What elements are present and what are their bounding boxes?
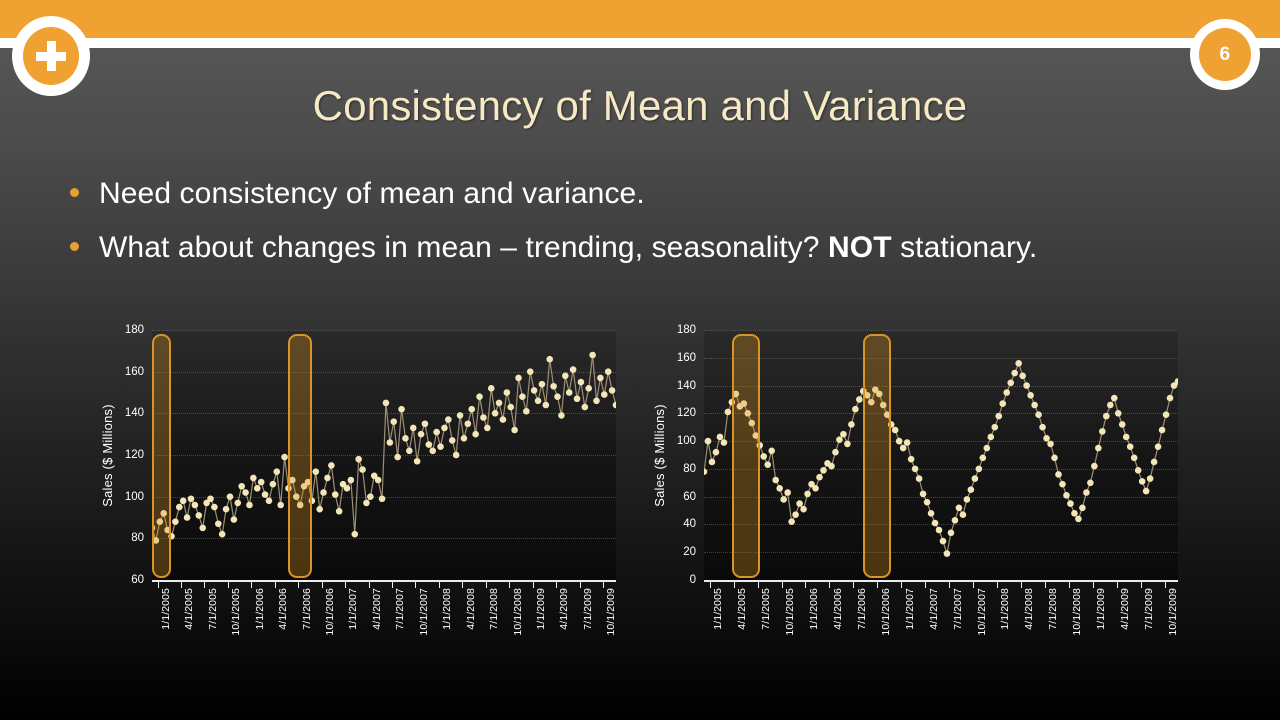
chart-x-tick-label: 4/1/2007	[371, 588, 383, 630]
chart-y-axis-label-text: Sales ($ Millions)	[652, 404, 667, 507]
page-number-label: 6	[1199, 28, 1251, 81]
chart-y-tick-label: 140	[125, 407, 144, 419]
chart-x-tick-labels: 1/1/20054/1/20057/1/200510/1/20051/1/200…	[704, 588, 1178, 668]
chart-x-tick-label: 10/1/2005	[230, 588, 242, 636]
chart-gridline	[152, 455, 616, 456]
header-divider-rule	[0, 38, 1280, 48]
chart-x-tick-label: 4/1/2006	[277, 588, 289, 630]
chart-x-tick-label: 10/1/2006	[324, 588, 336, 636]
chart-y-tick-label: 60	[131, 574, 144, 586]
chart-x-tick-label: 7/1/2009	[582, 588, 594, 630]
chart-x-tick-label: 1/1/2005	[712, 588, 724, 630]
chart-trending-series: Sales ($ Millions) 6080100120140160180 1…	[96, 330, 616, 670]
chart-x-tick-label: 1/1/2006	[254, 588, 266, 630]
chart-gridline	[704, 386, 1178, 387]
chart-x-tick-label: 7/1/2005	[760, 588, 772, 630]
chart-x-tick-label: 4/1/2005	[736, 588, 748, 630]
chart-gridline	[704, 358, 1178, 359]
chart-x-tick-label: 1/1/2009	[1095, 588, 1107, 630]
chart-x-tick-label: 1/1/2008	[441, 588, 453, 630]
chart-gridline	[704, 524, 1178, 525]
chart-x-tick-label: 10/1/2009	[1167, 588, 1179, 636]
chart-y-ticks: 6080100120140160180	[116, 330, 148, 580]
header-band	[0, 0, 1280, 38]
bullet-list: Need consistency of mean and variance. W…	[70, 172, 1190, 281]
chart-highlight-region	[732, 334, 760, 578]
slide: 6 Consistency of Mean and Variance Need …	[0, 0, 1280, 720]
plus-badge-inner	[23, 27, 79, 85]
chart-x-tick-label: 10/1/2005	[784, 588, 796, 636]
chart-gridline	[704, 413, 1178, 414]
chart-gridline	[152, 413, 616, 414]
page-title: Consistency of Mean and Variance	[0, 82, 1280, 130]
chart-x-tick-label: 7/1/2007	[952, 588, 964, 630]
chart-gridline	[704, 552, 1178, 553]
chart-gridline	[704, 330, 1178, 331]
chart-y-tick-label: 80	[683, 463, 696, 475]
chart-x-tick-label: 7/1/2007	[394, 588, 406, 630]
chart-y-tick-label: 0	[690, 574, 696, 586]
chart-plot-area	[152, 330, 616, 580]
chart-y-tick-label: 100	[125, 491, 144, 503]
bullet-text-span-after: stationary.	[892, 231, 1038, 264]
chart-x-tick-label: 7/1/2008	[488, 588, 500, 630]
bullet-dot-icon	[70, 242, 79, 251]
plus-icon	[36, 41, 66, 71]
chart-gridline	[704, 469, 1178, 470]
chart-y-tick-label: 100	[677, 435, 696, 447]
chart-y-tick-label: 20	[683, 546, 696, 558]
chart-y-tick-label: 180	[677, 324, 696, 336]
chart-gridline	[152, 538, 616, 539]
chart-y-tick-label: 180	[125, 324, 144, 336]
list-item: Need consistency of mean and variance.	[70, 172, 1190, 216]
chart-seasonal-series: Sales ($ Millions) 020406080100120140160…	[648, 330, 1178, 670]
chart-y-ticks: 020406080100120140160180	[668, 330, 700, 580]
bullet-text-span: Need consistency of mean and variance.	[99, 177, 645, 210]
chart-x-tick-label: 7/1/2006	[856, 588, 868, 630]
chart-y-tick-label: 160	[125, 366, 144, 378]
chart-y-axis-label: Sales ($ Millions)	[648, 330, 670, 580]
bullet-text-emphasis: NOT	[828, 231, 892, 264]
chart-x-tick-label: 7/1/2006	[301, 588, 313, 630]
chart-x-tick-label: 4/1/2008	[465, 588, 477, 630]
list-item: What about changes in mean – trending, s…	[70, 226, 1190, 270]
chart-x-tick-label: 4/1/2008	[1023, 588, 1035, 630]
chart-x-axis	[704, 580, 1178, 587]
chart-y-tick-label: 120	[125, 449, 144, 461]
chart-x-tick-label: 1/1/2008	[999, 588, 1011, 630]
chart-y-axis-label: Sales ($ Millions)	[96, 330, 118, 580]
chart-series-line	[704, 330, 1178, 580]
chart-y-tick-label: 40	[683, 518, 696, 530]
page-number-badge: 6	[1190, 19, 1260, 90]
chart-gridline	[152, 372, 616, 373]
chart-plot-area	[704, 330, 1178, 580]
bullet-text-span: What about changes in mean – trending, s…	[99, 231, 828, 264]
chart-x-tick-label: 4/1/2009	[558, 588, 570, 630]
chart-y-tick-label: 160	[677, 352, 696, 364]
chart-x-tick-label: 10/1/2008	[1071, 588, 1083, 636]
chart-x-tick-label: 10/1/2008	[512, 588, 524, 636]
chart-x-tick-label: 7/1/2009	[1143, 588, 1155, 630]
chart-panel-group: Sales ($ Millions) 6080100120140160180 1…	[0, 330, 1280, 670]
chart-x-tick-label: 1/1/2007	[347, 588, 359, 630]
chart-highlight-region	[863, 334, 891, 578]
chart-x-tick-label: 4/1/2007	[928, 588, 940, 630]
chart-y-tick-label: 60	[683, 491, 696, 503]
chart-x-tick-label: 4/1/2005	[183, 588, 195, 630]
chart-x-tick-label: 10/1/2007	[418, 588, 430, 636]
chart-x-tick-label: 1/1/2005	[160, 588, 172, 630]
chart-x-tick-label: 4/1/2009	[1119, 588, 1131, 630]
chart-y-axis-label-text: Sales ($ Millions)	[100, 404, 115, 507]
bullet-text: Need consistency of mean and variance.	[99, 172, 645, 216]
chart-gridline	[704, 441, 1178, 442]
chart-y-tick-label: 80	[131, 532, 144, 544]
chart-gridline	[152, 497, 616, 498]
chart-x-tick-label: 1/1/2007	[904, 588, 916, 630]
chart-highlight-region	[288, 334, 311, 578]
chart-x-tick-label: 4/1/2006	[832, 588, 844, 630]
chart-x-tick-label: 7/1/2008	[1047, 588, 1059, 630]
chart-x-tick-label: 1/1/2009	[535, 588, 547, 630]
bullet-dot-icon	[70, 188, 79, 197]
chart-x-tick-label: 10/1/2006	[880, 588, 892, 636]
chart-y-tick-label: 140	[677, 380, 696, 392]
chart-highlight-region	[152, 334, 171, 578]
chart-x-tick-label: 7/1/2005	[207, 588, 219, 630]
chart-x-tick-labels: 1/1/20054/1/20057/1/200510/1/20051/1/200…	[152, 588, 616, 668]
chart-x-tick-label: 1/1/2006	[808, 588, 820, 630]
bullet-text: What about changes in mean – trending, s…	[99, 226, 1037, 270]
chart-gridline	[152, 330, 616, 331]
chart-x-tick-label: 10/1/2009	[605, 588, 617, 636]
chart-gridline	[704, 497, 1178, 498]
chart-x-tick-label: 10/1/2007	[976, 588, 988, 636]
chart-y-tick-label: 120	[677, 407, 696, 419]
chart-x-axis	[152, 580, 616, 587]
